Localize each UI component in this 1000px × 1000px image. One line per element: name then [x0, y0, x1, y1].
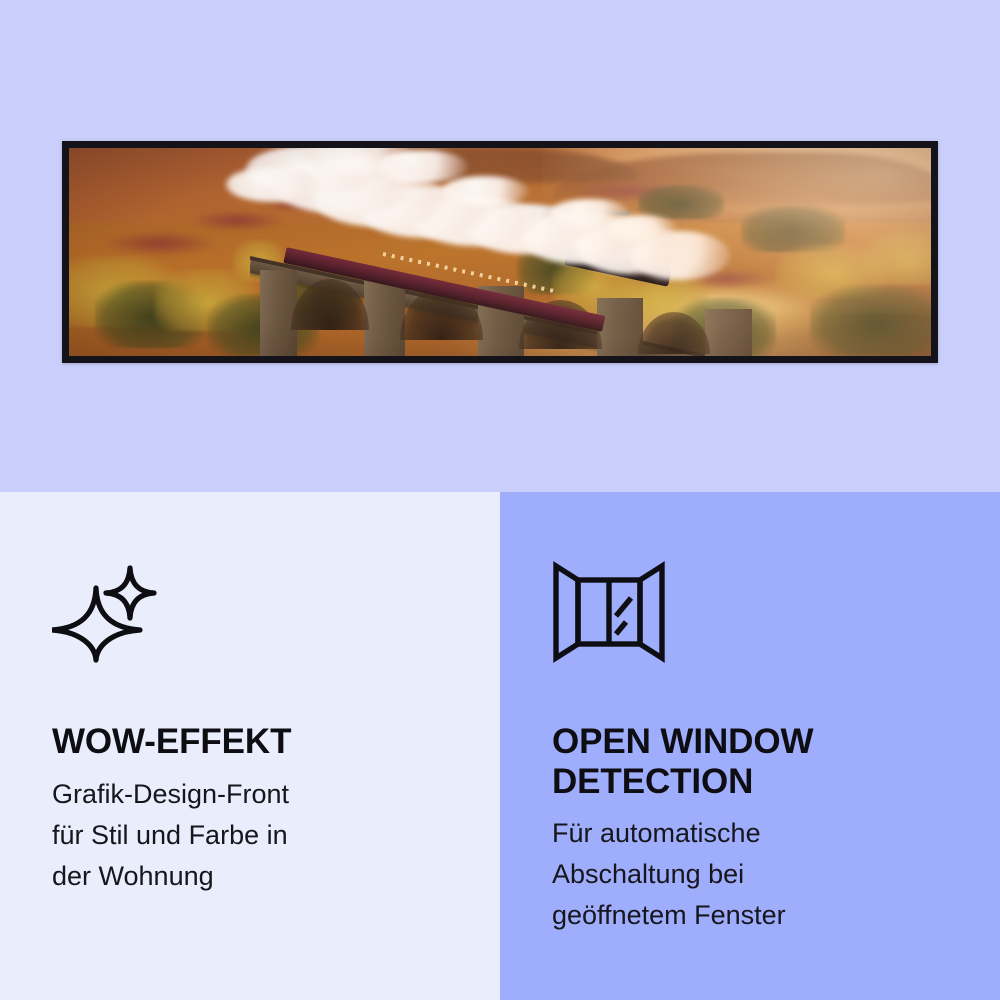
open-window-icon [552, 560, 948, 664]
panel-body: Für automatische Abschaltung bei geöffne… [552, 813, 948, 936]
photo-vignette [69, 148, 931, 356]
panel-title: WOW-EFFEKT [52, 722, 448, 762]
picture-frame [62, 141, 938, 363]
feature-panel-open-window-detection: OPEN WINDOW DETECTION Für automatische A… [500, 492, 1000, 1000]
sparkle-icon [52, 560, 448, 664]
feature-panels: WOW-EFFEKT Grafik-Design-Front für Stil … [0, 492, 1000, 1000]
framed-panorama-photo [69, 148, 931, 356]
hero-section [0, 0, 1000, 492]
feature-panel-wow-effekt: WOW-EFFEKT Grafik-Design-Front für Stil … [0, 492, 500, 1000]
panel-title: OPEN WINDOW DETECTION [552, 722, 948, 801]
product-feature-graphic: WOW-EFFEKT Grafik-Design-Front für Stil … [0, 0, 1000, 1000]
panel-body: Grafik-Design-Front für Stil und Farbe i… [52, 774, 448, 897]
